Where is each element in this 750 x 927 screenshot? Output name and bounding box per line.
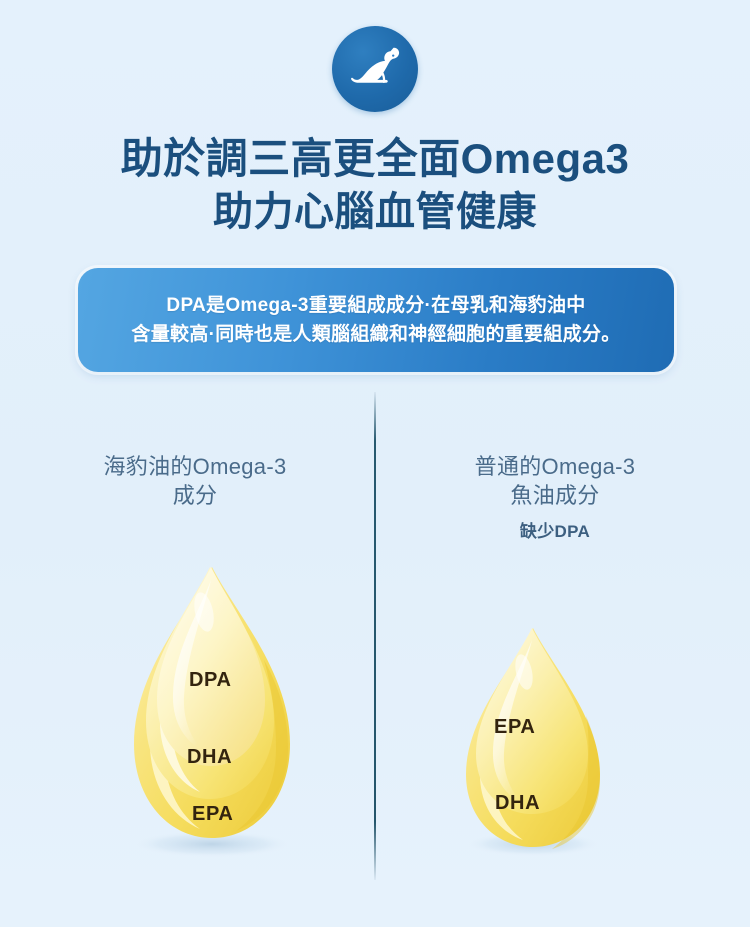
page-title: 助於調三高更全面Omega3 助力心腦血管健康 <box>0 133 750 237</box>
column-title-line-2: 成分 <box>173 483 218 508</box>
info-banner-line-2: 含量較高·同時也是人類腦組織和神經細胞的重要組成分。 <box>131 320 620 349</box>
droplet-label-epa-right: EPA <box>494 716 535 739</box>
column-fish-oil-header: 普通的Omega-3 魚油成分 缺少DPA <box>390 452 720 542</box>
headline-line-1: 助於調三高更全面Omega3 <box>0 133 750 184</box>
info-banner-line-1: DPA是Omega-3重要組成成分·在母乳和海豹油中 <box>166 291 585 320</box>
droplet-label-dha-left: DHA <box>187 746 232 769</box>
column-title-line-1: 海豹油的Omega-3 <box>103 454 286 479</box>
column-title: 海豹油的Omega-3 成分 <box>30 452 360 511</box>
column-subtitle: 缺少DPA <box>390 517 720 542</box>
column-title-line-2: 魚油成分 <box>510 483 599 508</box>
column-title: 普通的Omega-3 魚油成分 <box>390 452 720 511</box>
droplet-label-dha-right: DHA <box>495 792 540 815</box>
seal-icon <box>345 47 405 91</box>
droplet-label-dpa-left: DPA <box>189 669 232 692</box>
headline-line-2: 助力心腦血管健康 <box>0 188 750 237</box>
column-divider <box>374 392 376 880</box>
droplet-label-epa-left: EPA <box>192 803 233 826</box>
brand-logo <box>0 26 750 112</box>
column-title-line-1: 普通的Omega-3 <box>475 454 636 479</box>
infographic-page: 助於調三高更全面Omega3 助力心腦血管健康 DPA是Omega-3重要組成成… <box>0 0 750 927</box>
column-seal-oil-header: 海豹油的Omega-3 成分 <box>30 452 360 511</box>
logo-circle <box>332 26 418 112</box>
info-banner: DPA是Omega-3重要組成成分·在母乳和海豹油中 含量較高·同時也是人類腦組… <box>78 268 674 372</box>
